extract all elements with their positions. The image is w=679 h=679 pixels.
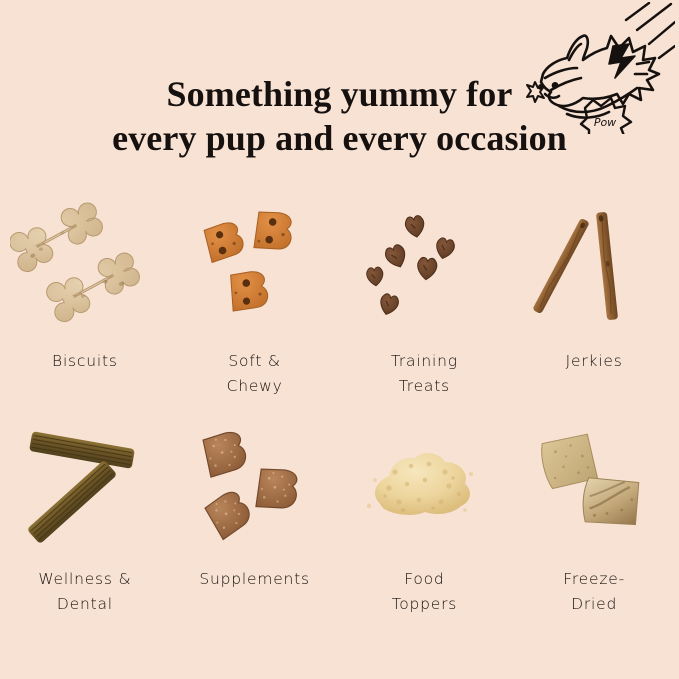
jerky-sticks-illustration: [519, 196, 669, 346]
category-label-line-2: Dental: [38, 592, 131, 617]
category-supplements[interactable]: Supplements: [170, 414, 340, 632]
dog-head-doodle: Pow: [525, 2, 675, 134]
category-label-line-2: Treats: [391, 374, 458, 399]
svg-text:Pow: Pow: [594, 116, 616, 129]
category-label-line-1: Jerkies: [566, 349, 623, 374]
category-label-line-1: Biscuits: [52, 349, 118, 374]
category-label: Soft & Chewy: [227, 349, 283, 399]
category-label-line-1: Food: [392, 567, 458, 592]
category-food-toppers[interactable]: Food Toppers: [340, 414, 510, 632]
category-freeze-dried[interactable]: Freeze- Dried: [509, 414, 679, 632]
supplement-chews-illustration: [180, 414, 330, 564]
small-heart-treats-illustration: [349, 196, 499, 346]
powder-pile-illustration: [349, 414, 499, 564]
category-label-line-1: Freeze-: [563, 567, 625, 592]
category-label: Jerkies: [566, 349, 623, 374]
ridged-dental-sticks-illustration: [10, 414, 160, 564]
category-label: Wellness & Dental: [38, 567, 131, 617]
category-label: Freeze- Dried: [563, 567, 625, 617]
category-wellness-and-dental[interactable]: Wellness & Dental: [0, 414, 170, 632]
freeze-dried-chunks-illustration: [519, 414, 669, 564]
category-training-treats[interactable]: Training Treats: [340, 196, 510, 414]
category-label-line-1: Wellness &: [38, 567, 131, 592]
chewy-b-treats-illustration: [180, 196, 330, 346]
category-label: Food Toppers: [392, 567, 458, 617]
category-label: Supplements: [199, 567, 310, 592]
bone-biscuits-illustration: [10, 196, 160, 346]
category-label-line-2: Toppers: [392, 592, 458, 617]
category-soft-and-chewy[interactable]: Soft & Chewy: [170, 196, 340, 414]
category-biscuits[interactable]: Biscuits: [0, 196, 170, 414]
category-label-line-1: Soft &: [227, 349, 283, 374]
category-label: Biscuits: [52, 349, 118, 374]
category-label-line-1: Supplements: [199, 567, 310, 592]
category-jerkies[interactable]: Jerkies: [509, 196, 679, 414]
promo-page: Something yummy for every pup and every …: [0, 0, 679, 679]
category-label-line-1: Training: [391, 349, 458, 374]
category-label-line-2: Chewy: [227, 374, 283, 399]
category-label-line-2: Dried: [563, 592, 625, 617]
category-grid: Biscuits: [0, 196, 679, 632]
category-label: Training Treats: [391, 349, 458, 399]
